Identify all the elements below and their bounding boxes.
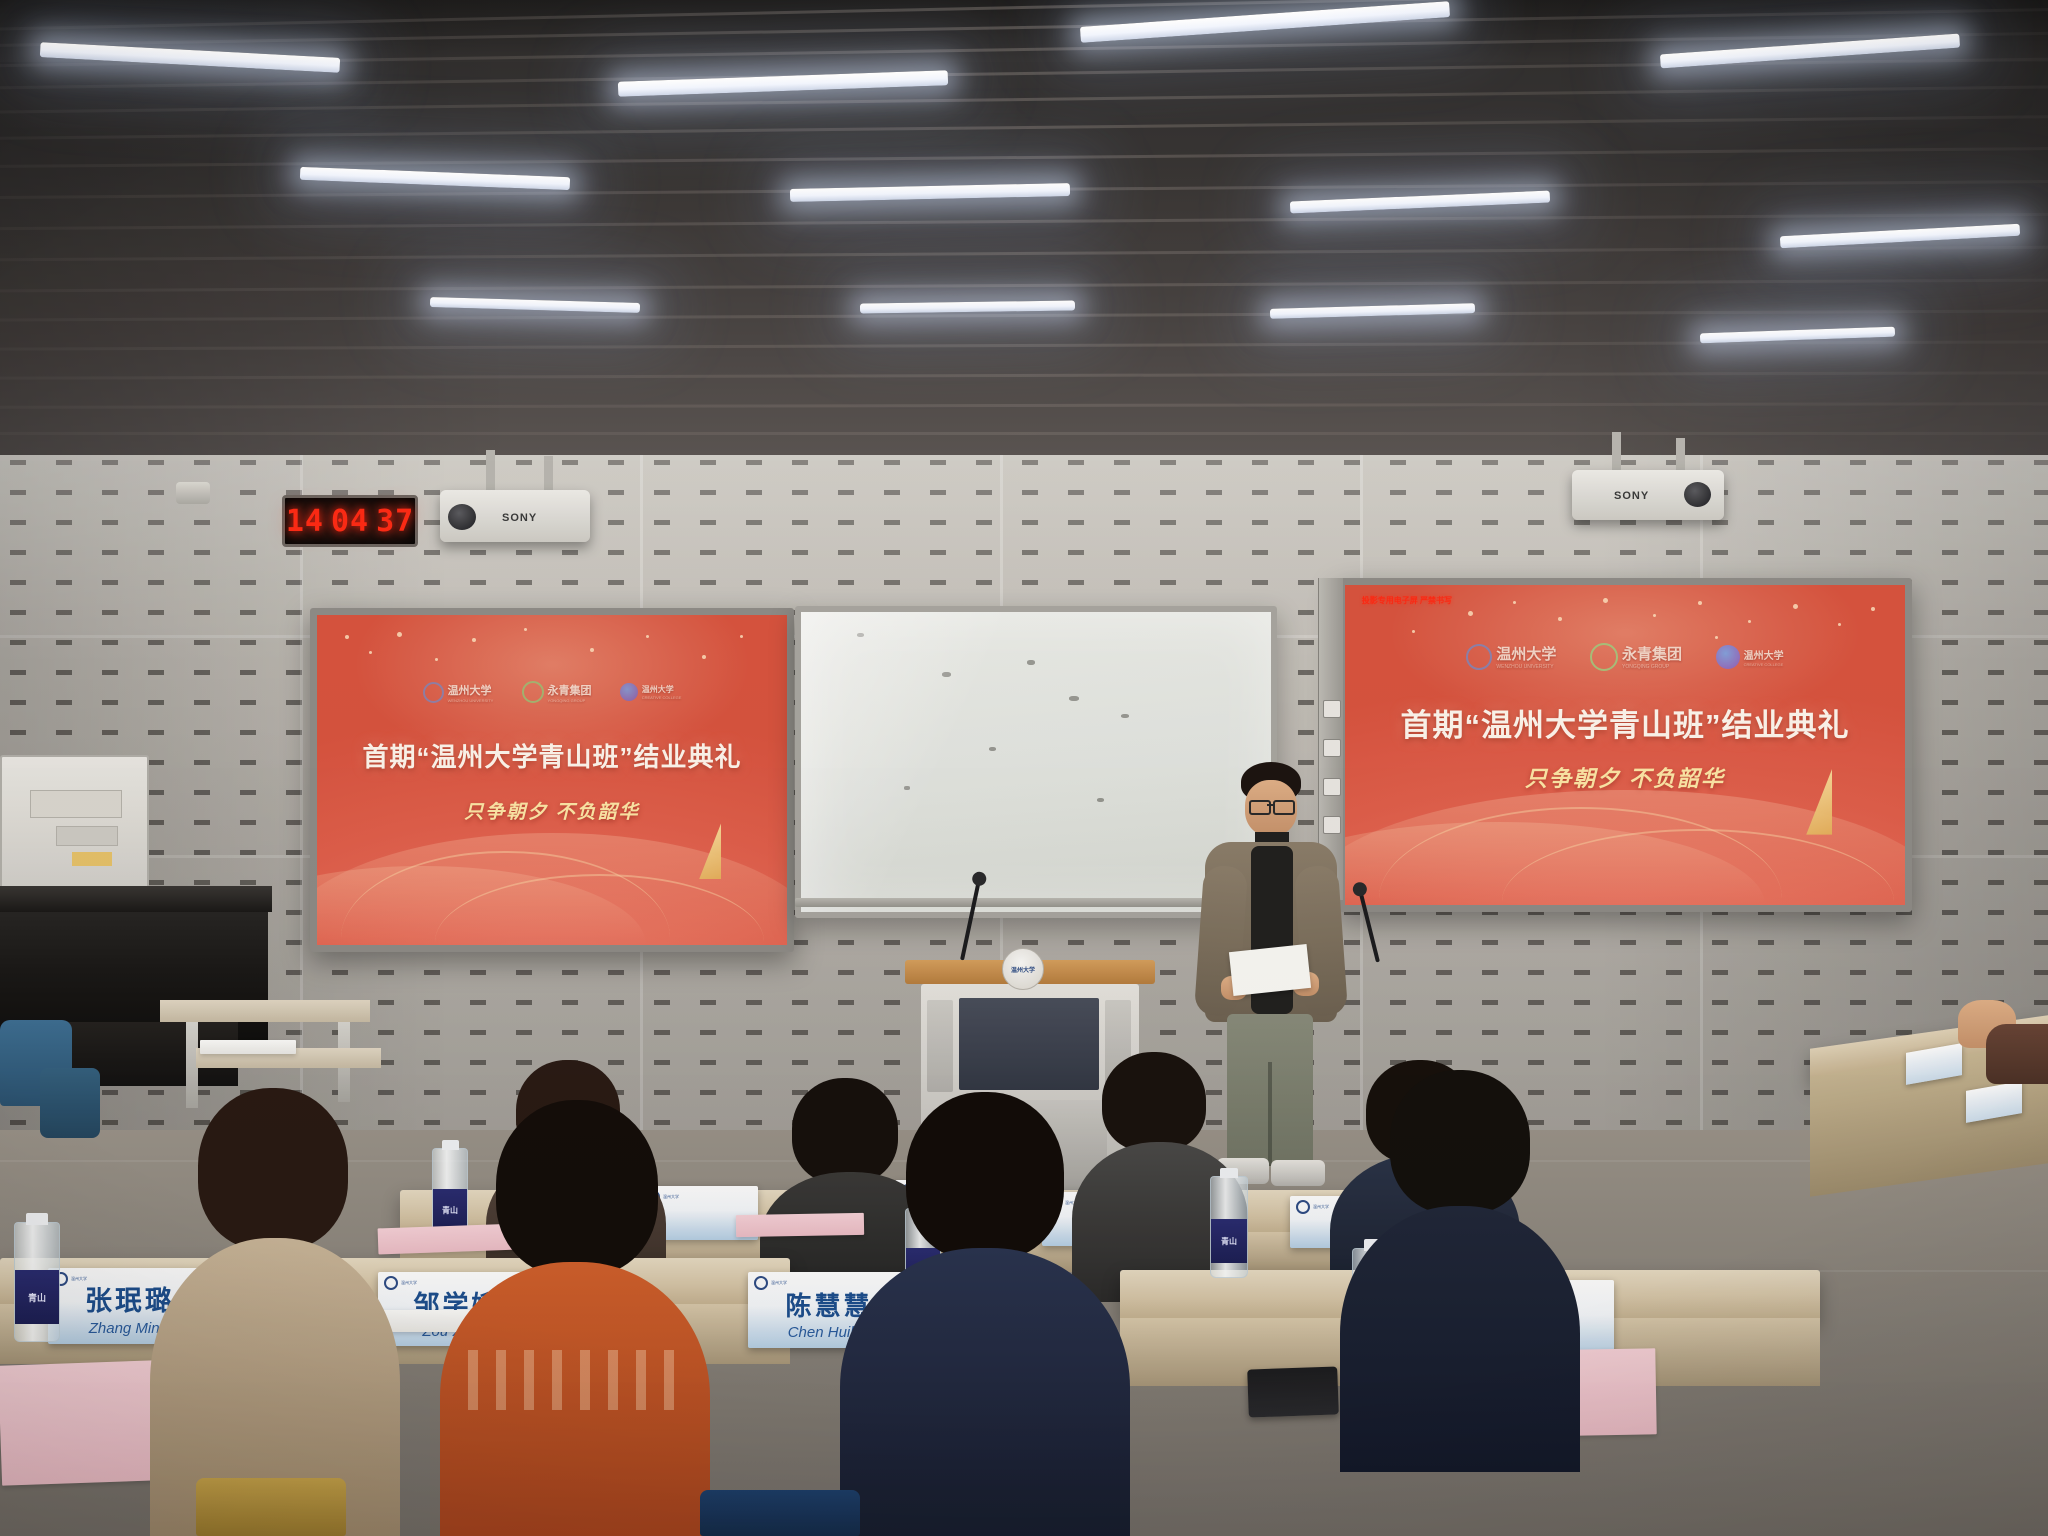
nameplate-logo-text: 温州大学 (71, 1277, 87, 1281)
ceiling-light (1290, 191, 1550, 214)
logo-name-cn: 温州大学 (642, 685, 674, 694)
nameplate-logo-text: 温州大学 (401, 1281, 417, 1285)
chair-back[interactable] (196, 1478, 346, 1536)
podium-emblem-label: 温州大学 (1011, 965, 1035, 974)
logo-name-cn: 温州大学 (1496, 646, 1556, 663)
cabinet-tag (72, 852, 112, 866)
piano-lid (0, 886, 272, 912)
logo-mark-icon (1296, 1200, 1310, 1214)
slide-logo-row: 温州大学 WENZHOU UNIVERSITY 永青集团 YONGQING GR… (1345, 643, 1905, 671)
slide-title: 首期“温州大学青山班”结业典礼 (317, 737, 787, 774)
audience-person-front-4 (1340, 1070, 1580, 1470)
logo-mark-icon (522, 681, 544, 703)
person-hair (1390, 1070, 1530, 1214)
cabinet-panel (56, 826, 118, 846)
pants-split (1268, 1062, 1272, 1166)
logo-mark-icon (754, 1276, 768, 1290)
sweater-pattern (468, 1350, 688, 1410)
side-desk (160, 1000, 370, 1022)
ceiling-light (1270, 303, 1475, 319)
nameplate-logo-text: 温州大学 (771, 1281, 787, 1285)
logo-name-en: YONGQING GROUP (1622, 664, 1682, 670)
slide-subtitle: 只争朝夕 不负韶华 (317, 797, 787, 824)
screen-warning-text: 投影专用电子屏 严禁书写 (1362, 595, 1452, 606)
glasses-bridge (1267, 804, 1274, 806)
slide-right: 投影专用电子屏 严禁书写 温州大学 WENZHOU UNIVERSITY (1345, 585, 1905, 905)
projection-screen-right: 投影专用电子屏 严禁书写 温州大学 WENZHOU UNIVERSITY (1338, 578, 1912, 912)
logo-creative-college: 温州大学 CREATIVE COLLEGE (620, 683, 682, 701)
logo-creative-college: 温州大学 CREATIVE COLLEGE (1716, 645, 1784, 669)
logo-name-cn: 温州大学 (448, 685, 492, 697)
clock-minutes: 04 (331, 504, 369, 539)
water-bottle[interactable]: 青山 (14, 1222, 60, 1342)
ceiling-light (300, 167, 570, 190)
screen-button[interactable] (1323, 739, 1342, 757)
logo-name-en: WENZHOU UNIVERSITY (448, 698, 494, 703)
person-body (840, 1248, 1130, 1536)
camera-mount-left (176, 482, 210, 504)
logo-mark-icon (620, 683, 638, 701)
logo-name-en: YONGQING GROUP (548, 698, 592, 703)
logo-wenzhou-university: 温州大学 WENZHOU UNIVERSITY (423, 682, 494, 703)
tablet-device[interactable] (1247, 1366, 1339, 1417)
right-attendee-sleeve (1986, 1024, 2048, 1084)
logo-name-cn: 温州大学 (1744, 651, 1784, 662)
person-hair (906, 1092, 1064, 1260)
audience-person-front-1 (150, 1088, 400, 1536)
nameplate-logo-text: 温州大学 (1313, 1205, 1329, 1209)
nameplate-logo: 温州大学 (754, 1276, 787, 1290)
logo-yongqing-group: 永青集团 YONGQING GROUP (522, 681, 592, 703)
projector-right: SONY (1572, 470, 1722, 530)
white-document (200, 1040, 296, 1054)
logo-mark-icon (423, 682, 444, 703)
ceiling-light (430, 297, 640, 313)
projector-brand-left: SONY (502, 512, 537, 524)
logo-name-en: WENZHOU UNIVERSITY (1496, 664, 1556, 670)
cabinet-panel (30, 790, 122, 818)
glasses-icon (1273, 800, 1295, 815)
person-hair (198, 1088, 348, 1250)
speaker-shoe-right (1271, 1160, 1325, 1186)
slide-title: 首期“温州大学青山班”结业典礼 (1345, 700, 1905, 745)
projection-screen-left: 温州大学 WENZHOU UNIVERSITY 永青集团 YONGQING GR… (310, 608, 794, 952)
ceiling (0, 0, 2048, 470)
bottle-label: 青山 (1211, 1219, 1247, 1263)
audience-person-front-3 (840, 1092, 1130, 1536)
projector-brand-right: SONY (1614, 490, 1649, 502)
logo-name-en: CREATIVE COLLEGE (1744, 662, 1784, 667)
audience-person-front-2 (440, 1100, 710, 1536)
speech-paper (1229, 944, 1311, 996)
chair-back[interactable] (700, 1490, 860, 1536)
logo-wenzhou-university: 温州大学 WENZHOU UNIVERSITY (1466, 643, 1556, 670)
slide-left: 温州大学 WENZHOU UNIVERSITY 永青集团 YONGQING GR… (317, 615, 787, 945)
person-hair (496, 1100, 658, 1276)
bottle-label: 青山 (15, 1270, 59, 1324)
logo-yongqing-group: 永青集团 YONGQING GROUP (1590, 643, 1682, 671)
logo-name-en: CREATIVE COLLEGE (642, 695, 682, 700)
person-body (1340, 1206, 1580, 1472)
logo-mark-icon (1590, 643, 1618, 671)
screen-button[interactable] (1323, 700, 1342, 718)
ceiling-light (1780, 224, 2020, 249)
clock-hours: 14 (286, 504, 324, 539)
slide-subtitle: 只争朝夕 不负韶华 (1345, 761, 1905, 793)
ceiling-light (860, 300, 1075, 313)
logo-name-cn: 永青集团 (1622, 646, 1682, 663)
logo-mark-icon (1466, 644, 1492, 670)
ceiling-light (790, 183, 1070, 202)
projector-left: SONY (440, 490, 590, 550)
slide-logo-row: 温州大学 WENZHOU UNIVERSITY 永青集团 YONGQING GR… (317, 681, 787, 703)
blue-chair[interactable] (40, 1068, 100, 1138)
podium-emblem: 温州大学 (1002, 948, 1044, 990)
lecture-hall-photo: 14 04 37 SONY SONY (0, 0, 2048, 1536)
nameplate-logo: 温州大学 (1296, 1200, 1329, 1214)
logo-mark-icon (1716, 645, 1740, 669)
clock-seconds: 37 (376, 504, 414, 539)
logo-name-cn: 永青集团 (548, 685, 592, 697)
glasses-icon (1249, 800, 1271, 815)
water-bottle[interactable]: 青山 (1210, 1176, 1248, 1278)
ceiling-light (618, 70, 948, 97)
led-wall-clock: 14 04 37 (282, 495, 418, 547)
